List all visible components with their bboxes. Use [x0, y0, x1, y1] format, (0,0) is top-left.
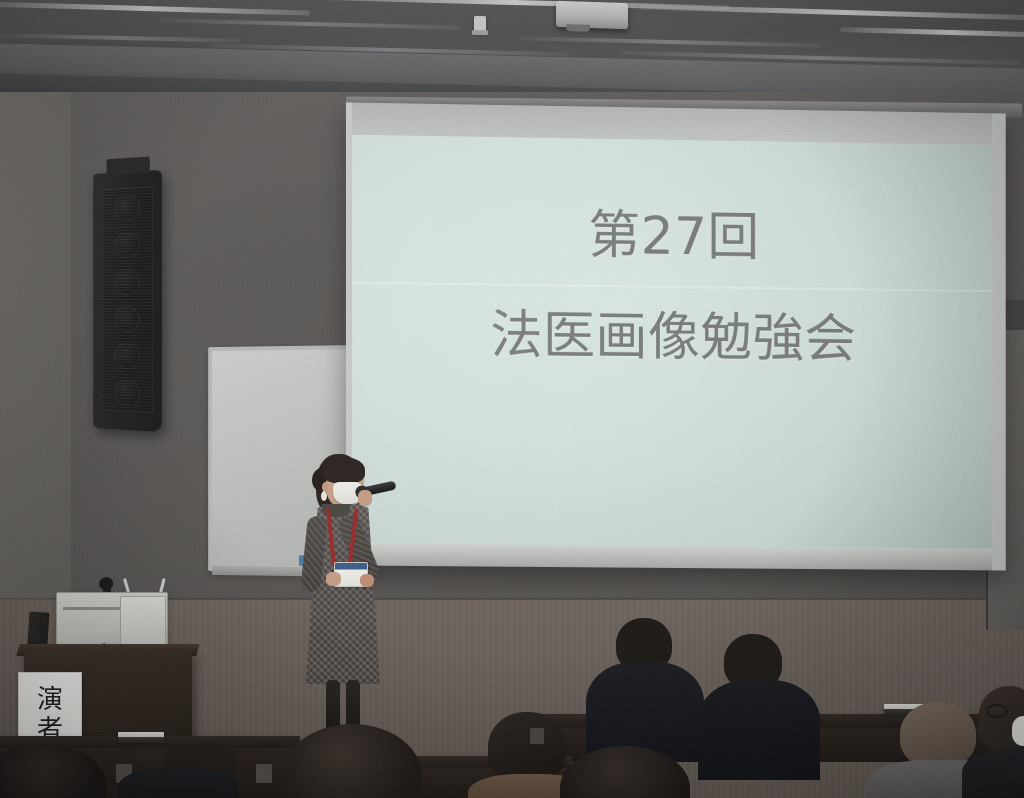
- ceiling-light-strip: [520, 36, 820, 47]
- audience-head: [900, 702, 976, 768]
- audience-shoulders: [698, 680, 820, 780]
- speaker-driver-icon: [114, 268, 140, 294]
- ceiling-light-strip: [160, 18, 460, 29]
- audience-member: [972, 686, 1024, 798]
- speaker-driver-icon: [114, 194, 140, 221]
- placard-char-1: 演: [37, 687, 63, 713]
- presenter-hand-holding-mic: [358, 490, 372, 506]
- slide-title-line-1: 第27回: [352, 204, 992, 270]
- audience-member: [118, 768, 238, 798]
- audience-shoulders: [962, 750, 1024, 798]
- presenter-hand-right-lower: [360, 574, 374, 587]
- speaker-grille: [102, 187, 153, 414]
- speaker-bracket: [107, 156, 150, 175]
- audience-head: [560, 746, 690, 798]
- speaker-driver-icon: [114, 379, 140, 406]
- ceiling-light-strip: [840, 27, 1024, 38]
- slide-text-block: 第27回 法医画像勉強会: [352, 204, 992, 371]
- eyeglasses-icon: [986, 704, 1008, 718]
- presenter-hair-front: [323, 457, 365, 483]
- audience-shoulders: [118, 768, 238, 798]
- desk-outlet-panel[interactable]: [256, 764, 272, 783]
- hair-clip-icon: [530, 728, 544, 744]
- audience-head: [282, 724, 422, 798]
- ceiling-light-strip: [0, 1, 310, 15]
- sprinkler-head-icon: [474, 16, 486, 32]
- ceiling-light-strip: [0, 33, 240, 42]
- speaker-driver-icon: [114, 231, 140, 258]
- presenter-hand-left: [326, 572, 341, 586]
- speaker-driver-icon: [114, 305, 140, 331]
- ceiling-light-strip: [640, 4, 1024, 20]
- projection-screen: 第27回 法医画像勉強会: [346, 102, 1006, 570]
- presenter-earring: [321, 491, 327, 501]
- speaker-driver-icon: [114, 342, 140, 369]
- audience-member: [282, 724, 432, 798]
- slide-title-line-2: 法医画像勉強会: [352, 306, 992, 371]
- audience-member: [0, 744, 100, 798]
- audience-face-mask: [1012, 716, 1024, 746]
- wall-speaker: [93, 170, 162, 432]
- lecture-hall-photo: 第27回 法医画像勉強会 演 者: [0, 0, 1024, 798]
- audience-head: [0, 744, 106, 798]
- audience-member: [708, 634, 828, 764]
- desk-nameplate: [118, 732, 164, 743]
- ceiling-projector: [556, 1, 628, 30]
- presenter: [296, 452, 398, 742]
- audience-member: [560, 746, 692, 798]
- projected-slide: 第27回 法医画像勉強会: [352, 135, 992, 549]
- side-wall-left: [0, 92, 72, 612]
